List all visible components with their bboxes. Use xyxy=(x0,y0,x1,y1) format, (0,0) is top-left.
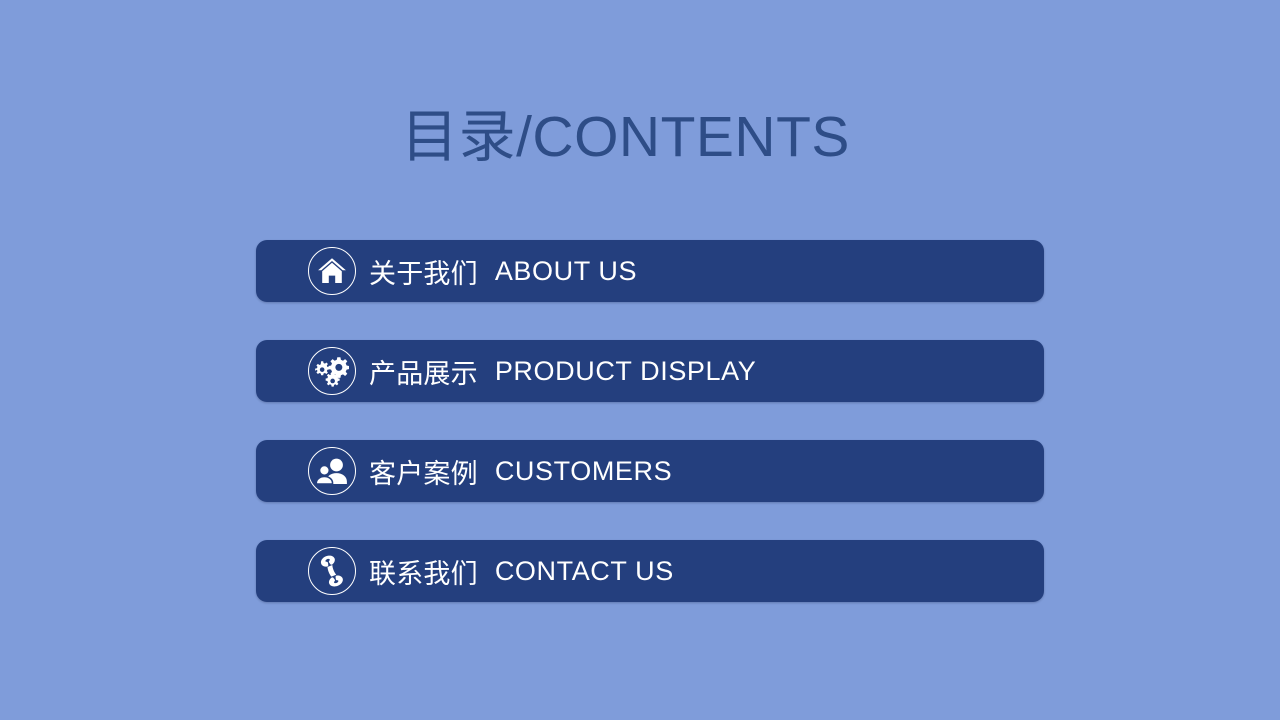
contents-item-label: 产品展示 PRODUCT DISPLAY xyxy=(369,340,756,402)
contents-item-label-cn: 客户案例 xyxy=(369,452,478,491)
contents-item-label-cn: 关于我们 xyxy=(369,252,478,291)
contents-item-contact-us[interactable]: 联系我们 CONTACT US xyxy=(256,540,1044,602)
contents-item-label-en: CONTACT US xyxy=(495,556,674,587)
users-icon xyxy=(308,447,356,495)
contents-item-product-display[interactable]: 产品展示 PRODUCT DISPLAY xyxy=(256,340,1044,402)
contents-item-label-en: ABOUT US xyxy=(495,256,637,287)
contents-list: 关于我们 ABOUT US 产品展示 xyxy=(256,240,1044,602)
contents-item-label: 联系我们 CONTACT US xyxy=(369,540,674,602)
contents-item-label-en: PRODUCT DISPLAY xyxy=(495,356,757,387)
contents-item-label: 客户案例 CUSTOMERS xyxy=(369,440,672,502)
contents-item-label: 关于我们 ABOUT US xyxy=(369,240,637,302)
contents-item-label-en: CUSTOMERS xyxy=(495,456,672,487)
contents-item-customers[interactable]: 客户案例 CUSTOMERS xyxy=(256,440,1044,502)
contents-item-label-cn: 产品展示 xyxy=(369,352,478,391)
contents-item-label-cn: 联系我们 xyxy=(369,552,478,591)
phone-handset-icon xyxy=(308,547,356,595)
gears-icon xyxy=(308,347,356,395)
contents-slide: 目录/CONTENTS 关于我们 ABOUT US xyxy=(0,0,1280,720)
contents-item-about-us[interactable]: 关于我们 ABOUT US xyxy=(256,240,1044,302)
home-icon xyxy=(308,247,356,295)
page-title: 目录/CONTENTS xyxy=(0,101,1251,173)
